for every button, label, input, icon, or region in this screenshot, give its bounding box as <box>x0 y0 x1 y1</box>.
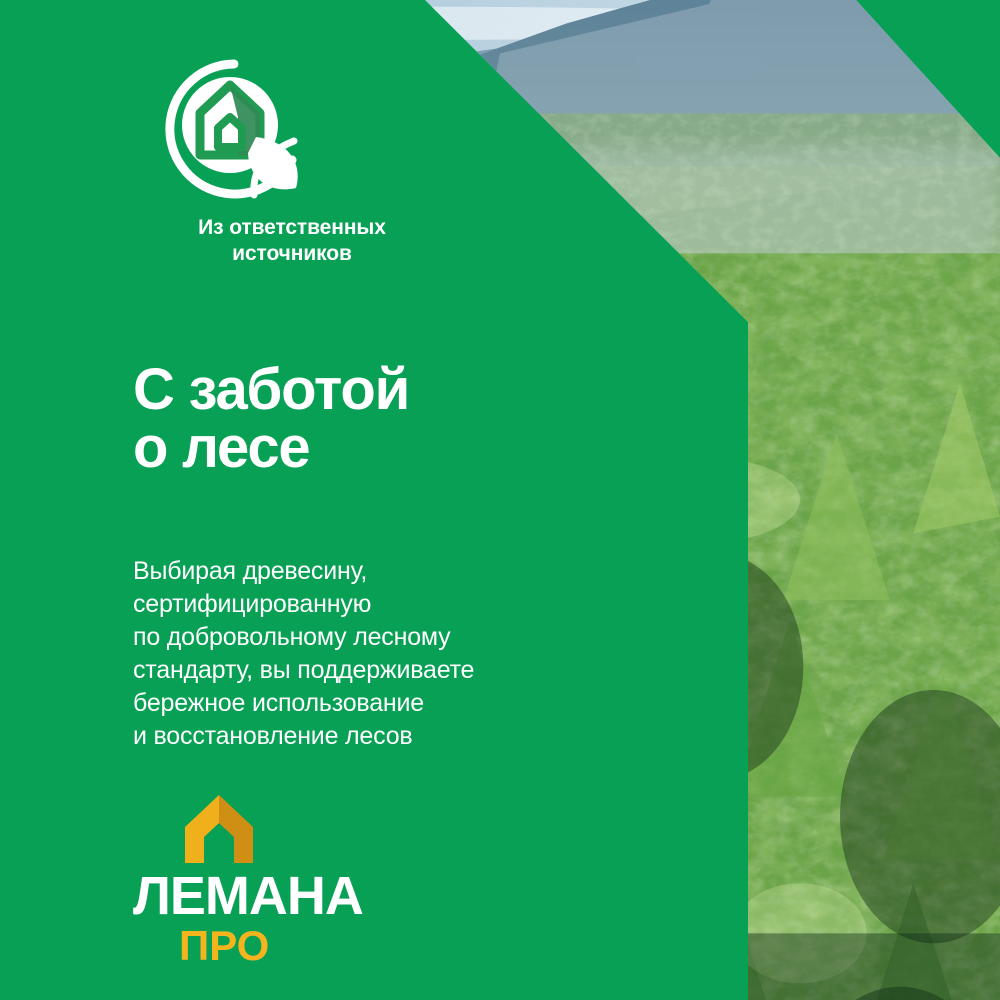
lemana-house-icon <box>177 793 261 865</box>
brand-name-lemana: ЛЕМАНА <box>133 869 333 923</box>
body-paragraph: Выбирая древесину, сертифицированную по … <box>133 555 474 753</box>
page-title: С заботой о лесе <box>133 361 409 477</box>
lemana-pro-logo: ЛЕМАНА ПРО <box>133 793 393 967</box>
lemana-pro-wordmark: ЛЕМАНА ПРО <box>133 869 333 967</box>
brand-name-pro: ПРО <box>179 925 333 967</box>
eco-badge-caption: Из ответственных источников <box>132 215 452 266</box>
green-content-panel: Из ответственных источников С заботой о … <box>0 0 760 1000</box>
poster-root: Из ответственных источников С заботой о … <box>0 0 1000 1000</box>
house-leaf-circle-emblem-icon <box>160 55 308 203</box>
eco-certification-badge: Из ответственных источников <box>132 55 452 266</box>
